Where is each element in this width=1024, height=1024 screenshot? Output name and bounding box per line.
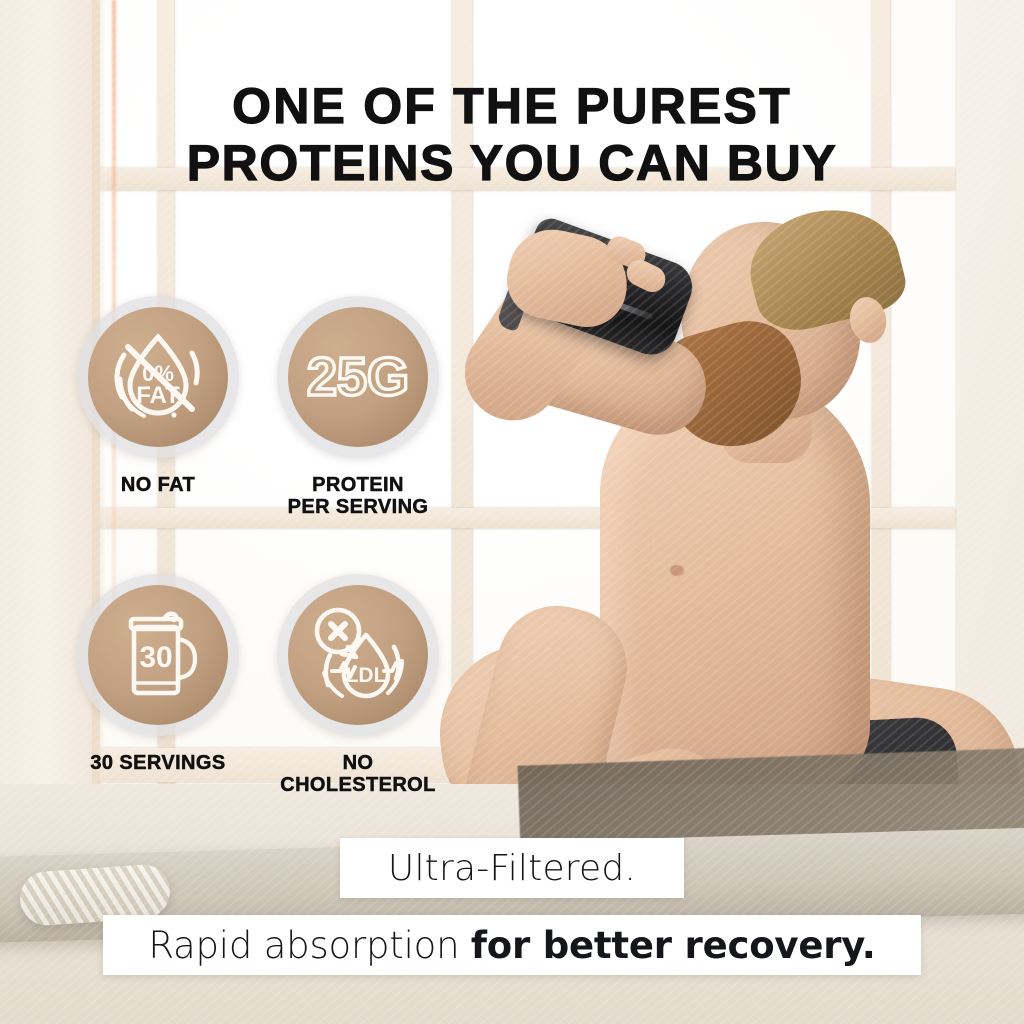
recovery-text-regular: Rapid absorption: [148, 924, 471, 967]
badge-icon-text: LDL: [346, 664, 387, 687]
recovery-banner: Rapid absorption for better recovery.: [103, 915, 921, 975]
badge-label-line-1: PROTEIN: [288, 474, 429, 496]
badge-ring: 25G: [277, 296, 439, 458]
badge-protein-per-serving[interactable]: 25G PROTEIN PER SERVING: [258, 296, 458, 519]
recovery-text-bold: for better recovery.: [471, 924, 876, 967]
badge-label-line-2: PER SERVING: [288, 496, 429, 518]
badge-label-protein: PROTEIN PER SERVING: [288, 474, 429, 519]
recovery-text: Rapid absorption for better recovery.: [148, 924, 875, 967]
badge-label-line-2: CHOLESTEROL: [280, 774, 436, 796]
no-fat-droplet-icon: 0% FAT: [104, 323, 212, 431]
ultra-filtered-text: Ultra-Filtered.: [388, 848, 636, 889]
25g-outline-text-icon: 25G: [298, 323, 418, 431]
shaker-cup-icon: 30: [104, 601, 212, 709]
badge-no-cholesterol[interactable]: LDL NO CHOLESTEROL: [258, 574, 458, 797]
badge-disc: 0% FAT: [88, 307, 228, 447]
badge-label-line-1: NO: [280, 752, 436, 774]
page-title: ONE OF THE PUREST PROTEINS YOU CAN BUY: [0, 78, 1024, 191]
badge-disc: 30: [88, 585, 228, 725]
headline-line-1: ONE OF THE PUREST: [0, 78, 1024, 135]
badge-label-no-fat: NO FAT: [121, 474, 195, 496]
badge-ring: 30: [77, 574, 239, 736]
badge-ring: LDL: [277, 574, 439, 736]
no-ldl-droplet-icon: LDL: [302, 599, 414, 711]
badge-ring: 0% FAT: [77, 296, 239, 458]
badge-no-fat[interactable]: 0% FAT NO FAT: [58, 296, 258, 519]
badge-servings[interactable]: 30 30 SERVINGS: [58, 574, 258, 797]
headline-line-2: PROTEINS YOU CAN BUY: [0, 135, 1024, 192]
badge-disc: 25G: [288, 307, 428, 447]
feature-badge-grid: 0% FAT NO FAT 25G PROTEI: [58, 296, 458, 797]
badge-row-2: 30 30 SERVINGS: [58, 519, 458, 797]
badge-disc: LDL: [288, 585, 428, 725]
badge-icon-text: 30: [139, 641, 172, 674]
promo-graphic: ONE OF THE PUREST PROTEINS YOU CAN BUY: [0, 0, 1024, 1024]
badge-row-1: 0% FAT NO FAT 25G PROTEI: [58, 296, 458, 519]
badge-icon-text-bottom: FAT: [136, 382, 180, 409]
badge-icon-text: 25G: [307, 347, 409, 407]
badge-label-servings: 30 SERVINGS: [90, 752, 225, 774]
ultra-filtered-banner: Ultra-Filtered.: [340, 838, 684, 898]
badge-label-cholesterol: NO CHOLESTEROL: [280, 752, 436, 797]
